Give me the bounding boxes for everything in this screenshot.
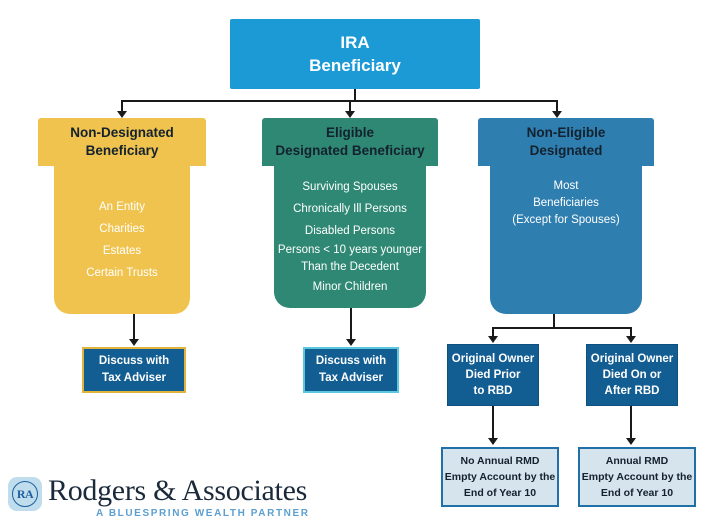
outcome-line3: to RBD bbox=[474, 383, 513, 399]
outcome-line1: Original Owner bbox=[452, 351, 534, 367]
category-non-designated-title-line1: Non-Designated bbox=[70, 124, 174, 142]
outcome-line3: End of Year 10 bbox=[601, 485, 673, 501]
category-eligible-designated-beneficiary: Eligible Designated Beneficiary Survivin… bbox=[262, 118, 438, 308]
logo-company-name: Rodgers & Associates bbox=[48, 474, 307, 508]
logo-tagline: A BLUESPRING WEALTH PARTNER bbox=[96, 508, 310, 519]
list-item: Surviving Spouses bbox=[302, 176, 397, 198]
outcome-line1: Annual RMD bbox=[606, 453, 668, 469]
connector-blue-horizontal bbox=[492, 327, 632, 329]
connector-blue-stem bbox=[553, 314, 555, 328]
list-item: Most bbox=[554, 178, 579, 195]
outcome-line2: Died Prior bbox=[466, 367, 521, 383]
list-item: Chronically Ill Persons bbox=[293, 198, 407, 220]
category-non-eligible-designated: Non-Eligible Designated Most Beneficiari… bbox=[478, 118, 654, 314]
category-non-designated-items: An Entity Charities Estates Certain Trus… bbox=[54, 166, 190, 314]
root-node-line1: IRA bbox=[340, 31, 369, 54]
category-eligible-title-line2: Designated Beneficiary bbox=[275, 142, 424, 160]
list-item: Disabled Persons bbox=[305, 220, 395, 242]
list-item: Than the Decedent bbox=[301, 259, 399, 276]
list-item: Charities bbox=[99, 218, 144, 240]
rodgers-associates-monogram-icon: RA bbox=[8, 477, 42, 511]
outcome-original-owner-died-on-or-after-rbd: Original Owner Died On or After RBD bbox=[586, 344, 678, 406]
logo-monogram-text: RA bbox=[12, 481, 38, 507]
arrow-to-eligible-designated bbox=[345, 111, 355, 118]
outcome-line2: Tax Adviser bbox=[102, 370, 166, 387]
connector-yellow-to-discuss bbox=[133, 314, 135, 340]
outcome-original-owner-died-prior-to-rbd: Original Owner Died Prior to RBD bbox=[447, 344, 539, 406]
connector-green-to-discuss bbox=[350, 308, 352, 340]
company-logo: RA Rodgers & Associates A BLUESPRING WEA… bbox=[8, 472, 320, 520]
category-non-eligible-title-line2: Designated bbox=[527, 142, 606, 160]
category-non-eligible-header: Non-Eligible Designated bbox=[478, 118, 654, 166]
outcome-line3: After RBD bbox=[605, 383, 660, 399]
root-node-line2: Beneficiary bbox=[309, 54, 401, 77]
arrow-yellow-to-discuss bbox=[129, 339, 139, 346]
outcome-annual-rmd: Annual RMD Empty Account by the End of Y… bbox=[578, 447, 696, 507]
connector-prior-rbd-to-result bbox=[492, 406, 494, 438]
list-item: Persons < 10 years younger bbox=[278, 242, 422, 259]
arrow-to-no-annual-rmd bbox=[488, 438, 498, 445]
root-node-ira-beneficiary: IRA Beneficiary bbox=[230, 19, 480, 89]
category-eligible-designated-items: Surviving Spouses Chronically Ill Person… bbox=[274, 166, 426, 308]
outcome-no-annual-rmd: No Annual RMD Empty Account by the End o… bbox=[441, 447, 559, 507]
outcome-line2: Died On or bbox=[603, 367, 662, 383]
list-item: Beneficiaries bbox=[533, 195, 599, 212]
outcome-line2: Empty Account by the bbox=[445, 469, 555, 485]
list-item: Minor Children bbox=[313, 276, 388, 298]
category-eligible-title-line1: Eligible bbox=[275, 124, 424, 142]
arrow-to-non-eligible-designated bbox=[552, 111, 562, 118]
category-non-designated-title-line2: Beneficiary bbox=[70, 142, 174, 160]
connector-after-rbd-to-result bbox=[630, 406, 632, 438]
category-non-designated-beneficiary: Non-Designated Beneficiary An Entity Cha… bbox=[38, 118, 206, 314]
arrow-green-to-discuss bbox=[346, 339, 356, 346]
connector-root-horizontal bbox=[121, 100, 558, 102]
list-item: An Entity bbox=[99, 196, 145, 218]
outcome-line1: Discuss with bbox=[99, 353, 169, 370]
outcome-line1: No Annual RMD bbox=[461, 453, 540, 469]
category-eligible-designated-header: Eligible Designated Beneficiary bbox=[262, 118, 438, 166]
arrow-to-prior-rbd bbox=[488, 336, 498, 343]
outcome-line1: Original Owner bbox=[591, 351, 673, 367]
outcome-discuss-tax-adviser-non-designated: Discuss with Tax Adviser bbox=[82, 347, 186, 393]
list-item: Certain Trusts bbox=[86, 262, 158, 284]
arrow-to-non-designated bbox=[117, 111, 127, 118]
list-item: Estates bbox=[103, 240, 141, 262]
outcome-line1: Discuss with bbox=[316, 353, 386, 370]
category-non-eligible-items: Most Beneficiaries (Except for Spouses) bbox=[490, 166, 642, 314]
category-non-eligible-title-line1: Non-Eligible bbox=[527, 124, 606, 142]
list-item: (Except for Spouses) bbox=[512, 212, 619, 229]
arrow-to-after-rbd bbox=[626, 336, 636, 343]
outcome-line2: Empty Account by the bbox=[582, 469, 692, 485]
outcome-line3: End of Year 10 bbox=[464, 485, 536, 501]
arrow-to-annual-rmd bbox=[626, 438, 636, 445]
category-non-designated-header: Non-Designated Beneficiary bbox=[38, 118, 206, 166]
outcome-discuss-tax-adviser-eligible: Discuss with Tax Adviser bbox=[303, 347, 399, 393]
outcome-line2: Tax Adviser bbox=[319, 370, 383, 387]
